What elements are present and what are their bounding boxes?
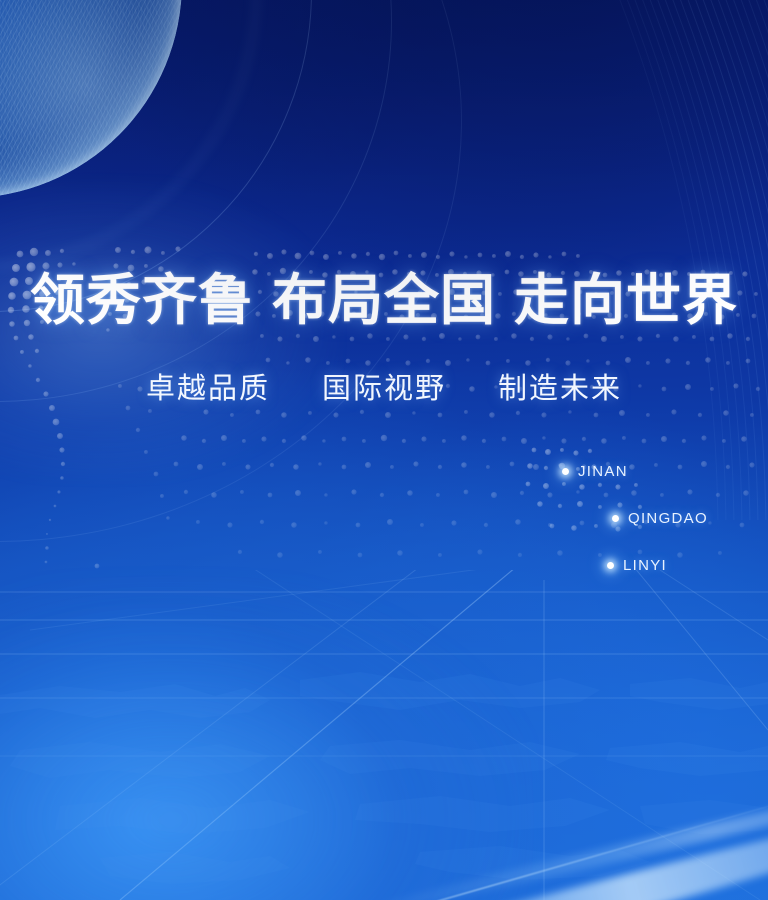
city-label-qingdao: QINGDAO	[628, 510, 708, 527]
headline-part-1: 领秀齐鲁	[30, 270, 254, 331]
city-marker-linyi[interactable]: LINYI	[607, 557, 667, 574]
city-dot-marker-icon	[562, 468, 569, 475]
city-marker-jinan[interactable]: JINAN	[562, 463, 628, 480]
subheadline-part-1: 卓越品质	[146, 373, 270, 405]
city-marker-qingdao[interactable]: QINGDAO	[612, 510, 708, 527]
hero-banner: 领秀齐鲁布局全国走向世界 卓越品质国际视野制造未来 JINAN QINGDAO …	[0, 0, 768, 900]
headline-part-2: 布局全国	[272, 270, 496, 331]
page-title: 领秀齐鲁布局全国走向世界	[0, 268, 768, 334]
headline-part-3: 走向世界	[514, 270, 738, 331]
subheadline-part-2: 国际视野	[322, 373, 446, 405]
bottom-left-glow	[0, 580, 530, 900]
city-label-linyi: LINYI	[623, 557, 667, 574]
subheadline-part-3: 制造未来	[498, 373, 622, 405]
city-dot-marker-icon	[607, 562, 614, 569]
city-dot-marker-icon	[612, 515, 619, 522]
page-subtitle: 卓越品质国际视野制造未来	[0, 371, 768, 407]
city-label-jinan: JINAN	[578, 463, 628, 480]
